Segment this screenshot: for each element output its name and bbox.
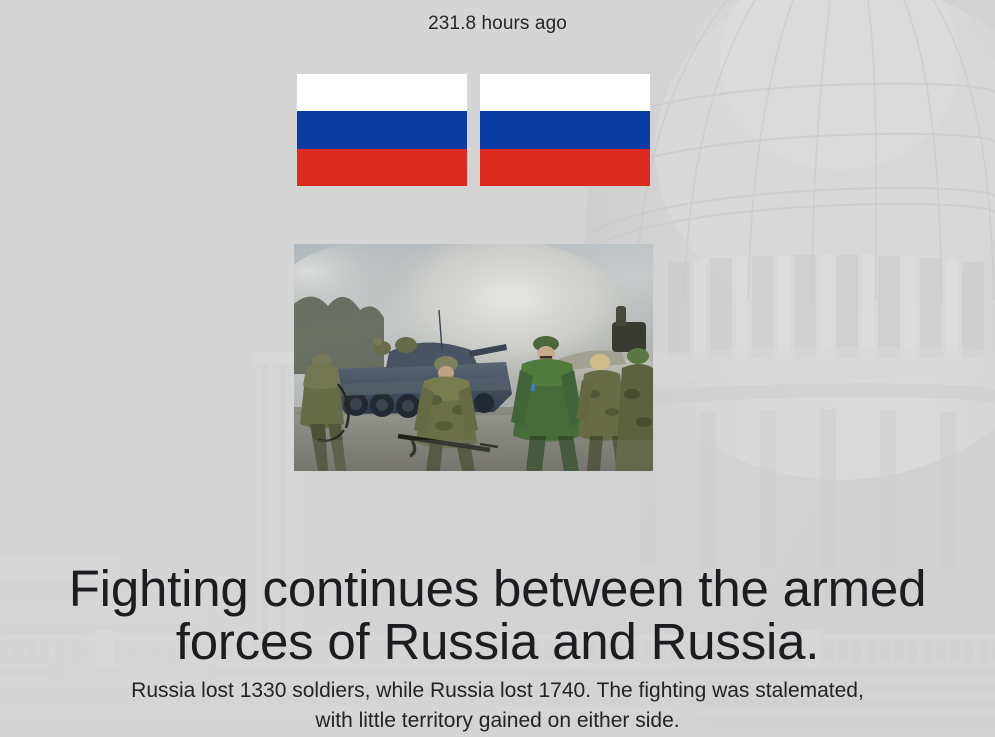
headline: Fighting continues between the armed for…: [0, 562, 995, 668]
body-text: Russia lost 1330 soldiers, while Russia …: [0, 676, 995, 737]
news-photo: 210: [294, 244, 653, 471]
flag-band-blue: [480, 111, 650, 148]
flag-russia-left: [297, 74, 467, 186]
flag-russia-right: [480, 74, 650, 186]
flag-band-blue: [297, 111, 467, 148]
flag-band-red: [480, 149, 650, 186]
flag-band-red: [297, 149, 467, 186]
timestamp-label: 231.8 hours ago: [0, 13, 995, 35]
news-card: 231.8 hours ago: [0, 0, 995, 727]
flag-band-white: [480, 74, 650, 111]
flags-row: [297, 74, 650, 186]
flag-band-white: [297, 74, 467, 111]
